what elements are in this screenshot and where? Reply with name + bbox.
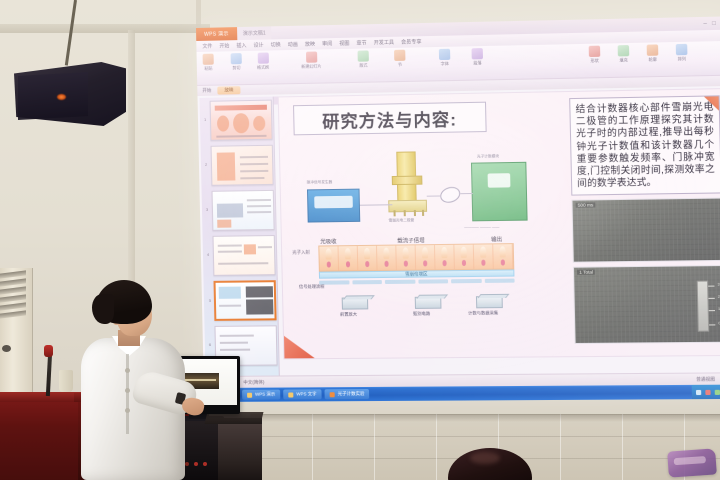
wps-writer-icon [288,392,293,397]
desk-item [667,448,717,477]
slide-body-text: 结合计数器核心部件雪崩光电二极管的工作原理探究其计数光子时的内部过程,推导出每秒… [569,95,720,195]
folder-icon [330,392,335,397]
capture-panel-bottom: 1 Total 3 2 1 0 [573,265,720,344]
signal-chain-boxes: 前置放大 甄别电路 计数与数据采集 [327,292,517,316]
ribbon-label: 形状 [590,58,598,64]
ribbon-shape[interactable]: 形状 [589,46,601,65]
status-right-group: 普通视图 100% [696,376,720,382]
thumbnail-number: 1 [204,117,206,122]
ribbon-label: 节 [398,62,402,68]
thumbnail-slide-2[interactable]: 2 [211,145,274,186]
air-conditioner-sensor [2,345,11,352]
taskbar-item-1-label: WPS 演示 [255,392,275,398]
presenter [78,280,188,480]
menu-item-file[interactable]: 文件 [202,43,212,50]
taskbar-item-2-label: WPS 文字 [296,391,316,397]
menu-item-animation[interactable]: 动画 [288,41,298,48]
arrange-icon [676,44,688,55]
slide-thumbnail-panel[interactable]: 1 2 3 [200,97,280,376]
scale-number-3: 3 [718,282,720,286]
wall-trim-horizontal [0,24,210,33]
menu-item-member[interactable]: 会员专享 [401,38,422,45]
menu-item-slideshow[interactable]: 放映 [305,40,315,47]
shirt-button [125,408,130,413]
projection-screen: WPS 演示 演示文稿1 – □ ✕ 文件 开始 插入 设计 切换 动画 放映 … [196,16,720,402]
outline-icon [647,44,659,55]
window-controls: – □ ✕ [703,19,720,27]
taskbar-item-1[interactable]: WPS 演示 [242,390,280,400]
apparatus-diagram: 脉冲信号发生器 雪崩光电二极管 光子计数模块 ———— ——— —— [290,145,562,260]
view-mode-label[interactable]: 普通视图 [696,376,715,382]
ribbon-layout[interactable]: 版式 [358,50,370,68]
diagram-label-green: 光子计数模块 [477,154,499,159]
stage-label-1: 光吸收 [320,237,337,245]
ribbon-label: 段落 [473,60,481,66]
wps-presentation-window: WPS 演示 演示文稿1 – □ ✕ 文件 开始 插入 设计 切换 动画 放映 … [196,16,720,402]
presenter-shirt-placket [126,354,129,434]
green-instrument-block [471,162,528,222]
tab-presentation-1[interactable]: 演示文稿1 [237,26,272,40]
ribbon-label: 版式 [359,63,367,69]
flow-box-2-label: 甄别电路 [413,311,430,317]
ribbon-arrange[interactable]: 排列 [676,44,688,63]
ribbon-fill[interactable]: 填充 [618,45,630,64]
beam-spot-icon [438,184,462,205]
ribbon-label: 填充 [619,57,627,63]
flow-box-1-label: 前置放大 [340,312,357,318]
blue-instrument-block [307,189,360,223]
ribbon-label: 轮廓 [648,57,656,63]
taskbar-item-3-label: 光子计数实验 [338,391,365,397]
lecture-room-screenshot: WPS 演示 演示文稿1 – □ ✕ 文件 开始 插入 设计 切换 动画 放映 … [0,0,720,480]
network-icon[interactable] [696,389,701,394]
cut-icon [231,53,242,64]
menu-item-transition[interactable]: 切换 [271,41,281,48]
taskbar-item-3[interactable]: 光子计数实验 [325,389,370,399]
ribbon-outline[interactable]: 轮廓 [647,44,659,63]
flow-box-1 [342,297,369,309]
shirt-button [125,388,130,393]
stage-label-3: 输出 [491,235,502,243]
incident-photon-label: 光子入射 [292,250,310,256]
antivirus-icon[interactable] [705,389,710,394]
slide-body-paragraph: 结合计数器核心部件雪崩光电二极管的工作原理探究其计数光子时的内部过程,推导出每秒… [575,101,715,189]
ribbon-label: 粘贴 [204,66,212,72]
cup [59,370,73,392]
thumbnail-slide-5[interactable]: 5 [214,280,277,321]
thumbnail-slide-3[interactable]: 3 [212,190,275,231]
signal-flow-label: 信号处理流程 [299,284,324,290]
ribbon-section[interactable]: 节 [394,50,406,68]
ribbon-paragraph[interactable]: 段落 [472,48,484,66]
flow-box-3 [476,296,503,308]
capture-panel-top: 500 ms [571,198,720,263]
shirt-button [125,368,130,373]
slide-title: 研究方法与内容: [293,102,487,136]
audience-hair-highlight [470,452,500,464]
wall-trim-vertical [128,30,135,300]
presenter-hair-side [92,294,114,324]
capture-top-label: 500 ms [576,202,596,207]
ribbon-new-slide[interactable]: 新建幻灯片 [301,51,322,69]
air-conditioner-vents [0,272,26,318]
quickbar-chip[interactable]: 放映 [217,86,240,94]
new-slide-icon [305,52,316,63]
ribbon-label: 新建幻灯片 [301,63,321,69]
wps-presentation-icon [247,392,252,397]
array-contact-row [319,278,515,286]
windows-taskbar: 开始 WPS 演示 WPS 文字 光子计数实验 [204,385,720,402]
ribbon-format-painter[interactable]: 格式刷 [257,52,269,70]
minimize-button[interactable]: – [703,20,707,26]
menu-item-insert[interactable]: 插入 [236,42,246,49]
ribbon-label: 字体 [441,61,449,67]
thumbnail-number: 4 [207,252,209,257]
ribbon-label: 排列 [678,56,686,62]
diagram-label-blue: 脉冲信号发生器 [307,180,333,185]
paste-icon [203,54,214,65]
taskbar-buttons: WPS 演示 WPS 文字 光子计数实验 [238,389,370,400]
menu-item-review[interactable]: 审阅 [322,40,332,47]
slide-canvas[interactable]: 研究方法与内容: 结合计数器核心部件雪崩光电二极管的工作原理探究其计数光子时的内… [278,88,720,359]
diagram-note-right: ———— ——— —— [464,224,546,229]
format-painter-icon [257,53,268,64]
thumbnail-number: 2 [205,162,207,167]
flow-box-2 [415,297,442,309]
shape-icon [589,46,601,57]
thumbnail-number: 6 [209,342,211,347]
flow-box-3-label: 计数与数据采集 [468,310,498,316]
language-indicator[interactable]: 中文(简体) [243,379,264,385]
maximize-button[interactable]: □ [712,20,716,26]
capture-bottom-label: 1 Total [577,270,595,275]
equipment-rack [218,424,262,480]
menu-item-design[interactable]: 设计 [253,42,263,49]
menu-item-view[interactable]: 视图 [339,40,349,47]
thumbnail-slide-1[interactable]: 1 [210,100,273,141]
fill-icon [618,45,630,56]
ribbon-font[interactable]: 字体 [439,49,451,67]
menu-item-section[interactable]: 章节 [356,39,366,46]
ribbon-cut[interactable]: 剪切 [231,53,242,71]
wall-speaker [14,62,126,126]
thumbnail-number: 5 [209,298,211,303]
thumbnail-number: 3 [206,207,208,212]
detector-base [388,200,427,213]
avalanche-cell-array [318,243,514,272]
section-icon [394,50,405,61]
menu-item-home[interactable]: 开始 [219,42,229,49]
capture-noise-texture [572,199,720,262]
ribbon-label: 格式刷 [257,65,269,71]
detector-tube-flange [392,176,423,186]
ribbon-paste[interactable]: 粘贴 [203,54,214,72]
thumbnail-slide-4[interactable]: 4 [213,235,276,276]
layout-icon [358,50,369,61]
tile-wall-shadow [250,414,720,422]
ribbon-label: 剪切 [232,65,240,71]
system-tray: 20:14 [692,385,720,400]
paragraph-icon [472,48,484,59]
speaker-power-led [57,94,66,100]
quickbar-label[interactable]: 开始 [202,88,211,94]
menu-item-devtools[interactable]: 开发工具 [374,39,394,46]
slide-corner-triangle [284,328,315,358]
taskbar-item-2[interactable]: WPS 文字 [283,389,322,399]
speaker-grille [18,72,88,120]
capture-intensity-scale: 3 2 1 0 [697,281,710,332]
volume-icon[interactable] [715,389,720,394]
microphone-head [44,345,53,357]
font-icon [439,49,450,60]
tab-wps-presentation[interactable]: WPS 演示 [196,27,237,41]
diagram-label-tube: 雪崩光电二极管 [389,218,415,223]
